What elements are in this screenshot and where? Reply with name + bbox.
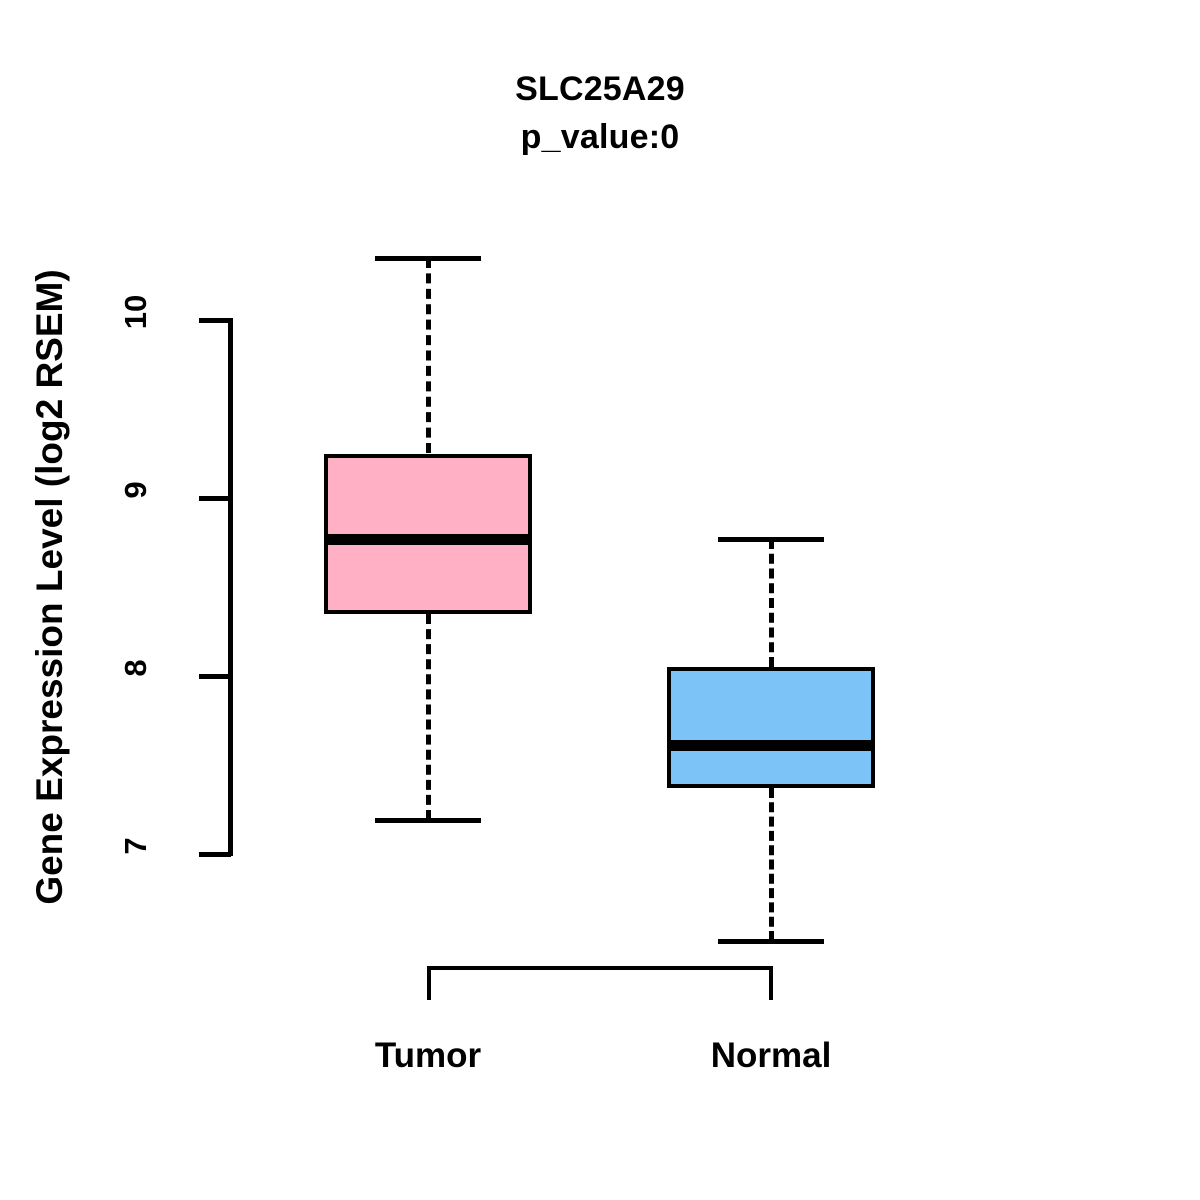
normal-median-line <box>667 740 875 751</box>
y-axis-title: Gene Expression Level (log2 RSEM) <box>29 269 71 904</box>
normal-lower-whisker <box>769 788 774 941</box>
y-axis-title-wrapper: Gene Expression Level (log2 RSEM) <box>23 167 77 1007</box>
tumor-upper-whisker <box>426 258 431 454</box>
x-axis-line <box>427 966 773 970</box>
y-tick-mark-10 <box>199 318 231 323</box>
normal-upper-whisker-cap <box>718 537 824 542</box>
page-title: SLC25A29 <box>0 70 1200 109</box>
tumor-upper-whisker-cap <box>375 256 481 261</box>
tumor-lower-whisker-cap <box>375 818 481 823</box>
normal-box <box>667 667 875 788</box>
y-tick-label-8: 8 <box>118 638 154 698</box>
y-tick-mark-9 <box>199 496 231 501</box>
x-tick-label-normal: Normal <box>651 1036 891 1076</box>
x-tick-mark-tumor <box>427 966 431 1000</box>
tumor-median-line <box>324 534 532 545</box>
y-tick-mark-8 <box>199 674 231 679</box>
normal-lower-whisker-cap <box>718 939 824 944</box>
y-tick-label-10: 10 <box>118 282 154 342</box>
x-tick-label-tumor: Tumor <box>308 1036 548 1076</box>
tumor-lower-whisker <box>426 614 431 820</box>
y-tick-mark-7 <box>199 852 231 857</box>
y-tick-label-9: 9 <box>118 460 154 520</box>
normal-upper-whisker <box>769 539 774 667</box>
boxplot-figure: SLC25A29 p_value:0 Gene Expression Level… <box>0 0 1200 1200</box>
p-value-subtitle: p_value:0 <box>0 118 1200 157</box>
y-axis-line <box>228 318 233 856</box>
y-tick-label-7: 7 <box>118 816 154 876</box>
x-tick-mark-normal <box>769 966 773 1000</box>
